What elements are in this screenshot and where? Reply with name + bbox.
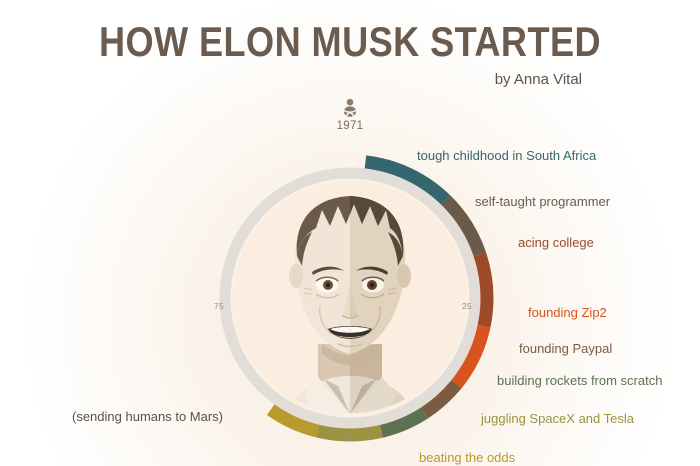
life-timeline-wheel: [200, 148, 500, 448]
age-tick-75: 75: [214, 301, 224, 311]
label-tough-childhood: tough childhood in South Africa: [417, 148, 596, 163]
wheel-graphics: [200, 148, 500, 448]
byline: by Anna Vital: [0, 71, 582, 88]
label-self-taught: self-taught programmer: [475, 194, 610, 209]
label-founding-zip2: founding Zip2: [528, 305, 607, 320]
infographic-canvas: HOW ELON MUSK STARTED by Anna Vital 1971: [0, 0, 700, 466]
page-title: HOW ELON MUSK STARTED: [49, 18, 651, 66]
birth-year: 1971: [330, 120, 370, 132]
label-juggling-spacex: juggling SpaceX and Tesla: [481, 411, 634, 426]
label-sending-humans: (sending humans to Mars): [72, 409, 223, 424]
age-tick-25: 25: [462, 301, 472, 311]
label-founding-paypal: founding Paypal: [519, 341, 612, 356]
age-tick-50: 50: [343, 431, 353, 441]
label-acing-college: acing college: [518, 235, 594, 250]
baby-icon: [341, 98, 359, 118]
birth-marker: 1971: [330, 98, 370, 132]
label-beating-odds: beating the odds: [419, 450, 515, 465]
label-building-rockets: building rockets from scratch: [497, 373, 662, 388]
